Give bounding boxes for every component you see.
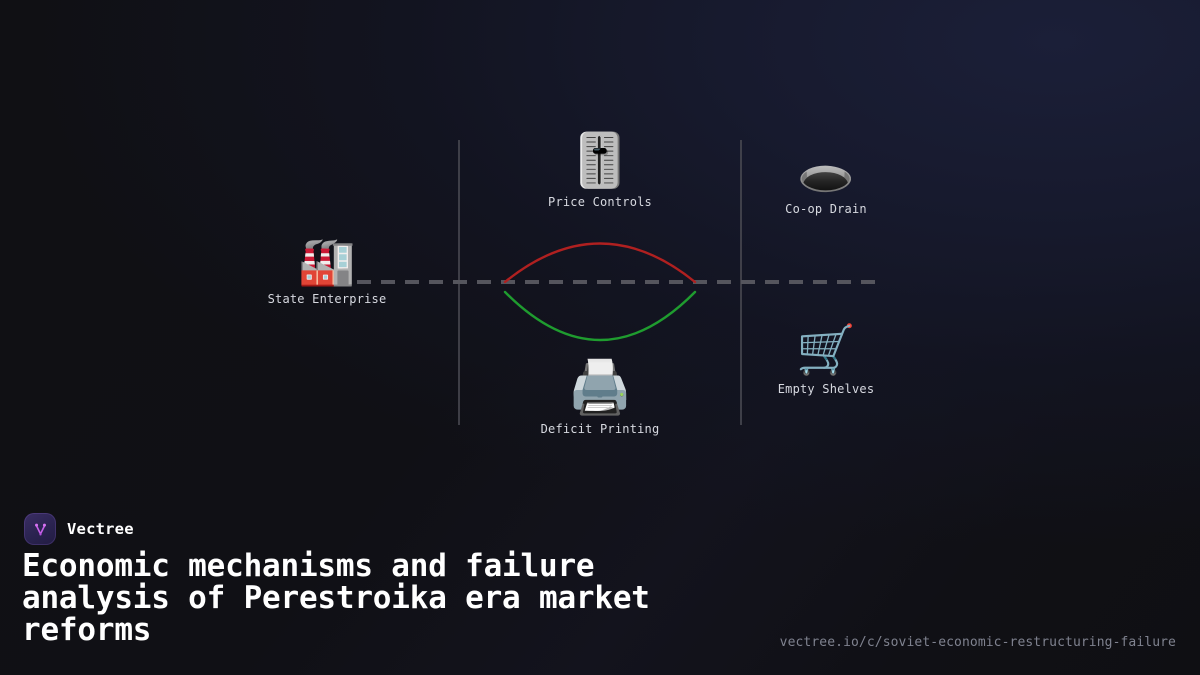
printer-icon: 🖨️ — [541, 362, 660, 414]
diagram-stage: 🏭State Enterprise🎚️Price Controls🕳️Co-op… — [0, 0, 1200, 480]
arc-upper-red — [505, 244, 695, 283]
card-footer: Vectree Economic mechanisms and failure … — [0, 480, 1200, 675]
brand-lockup: Vectree — [24, 513, 134, 545]
hole-icon: 🕳️ — [785, 148, 867, 194]
arc-lower-green — [505, 292, 695, 340]
diagram-node-empty-shelves: 🛒Empty Shelves — [778, 326, 875, 395]
shopping-cart-icon: 🛒 — [778, 326, 875, 374]
diagram-node-label: Deficit Printing — [541, 423, 660, 435]
diagram-node-label: Price Controls — [548, 196, 652, 208]
level-slider-icon: 🎚️ — [548, 135, 652, 187]
diagram-node-co-op-drain: 🕳️Co-op Drain — [785, 148, 867, 215]
vectree-tree-icon — [24, 513, 56, 545]
source-url: vectree.io/c/soviet-economic-restructuri… — [780, 635, 1176, 650]
factory-icon: 🏭 — [268, 238, 387, 284]
diagram-node-label: Co-op Drain — [785, 203, 867, 215]
diagram-node-deficit-printing: 🖨️Deficit Printing — [541, 362, 660, 435]
diagram-node-state-enterprise: 🏭State Enterprise — [268, 238, 387, 305]
social-card: 🏭State Enterprise🎚️Price Controls🕳️Co-op… — [0, 0, 1200, 675]
page-title: Economic mechanisms and failure analysis… — [22, 550, 722, 646]
brand-name: Vectree — [67, 520, 134, 538]
diagram-node-label: State Enterprise — [268, 293, 387, 305]
diagram-node-price-controls: 🎚️Price Controls — [548, 135, 652, 208]
diagram-node-label: Empty Shelves — [778, 383, 875, 395]
